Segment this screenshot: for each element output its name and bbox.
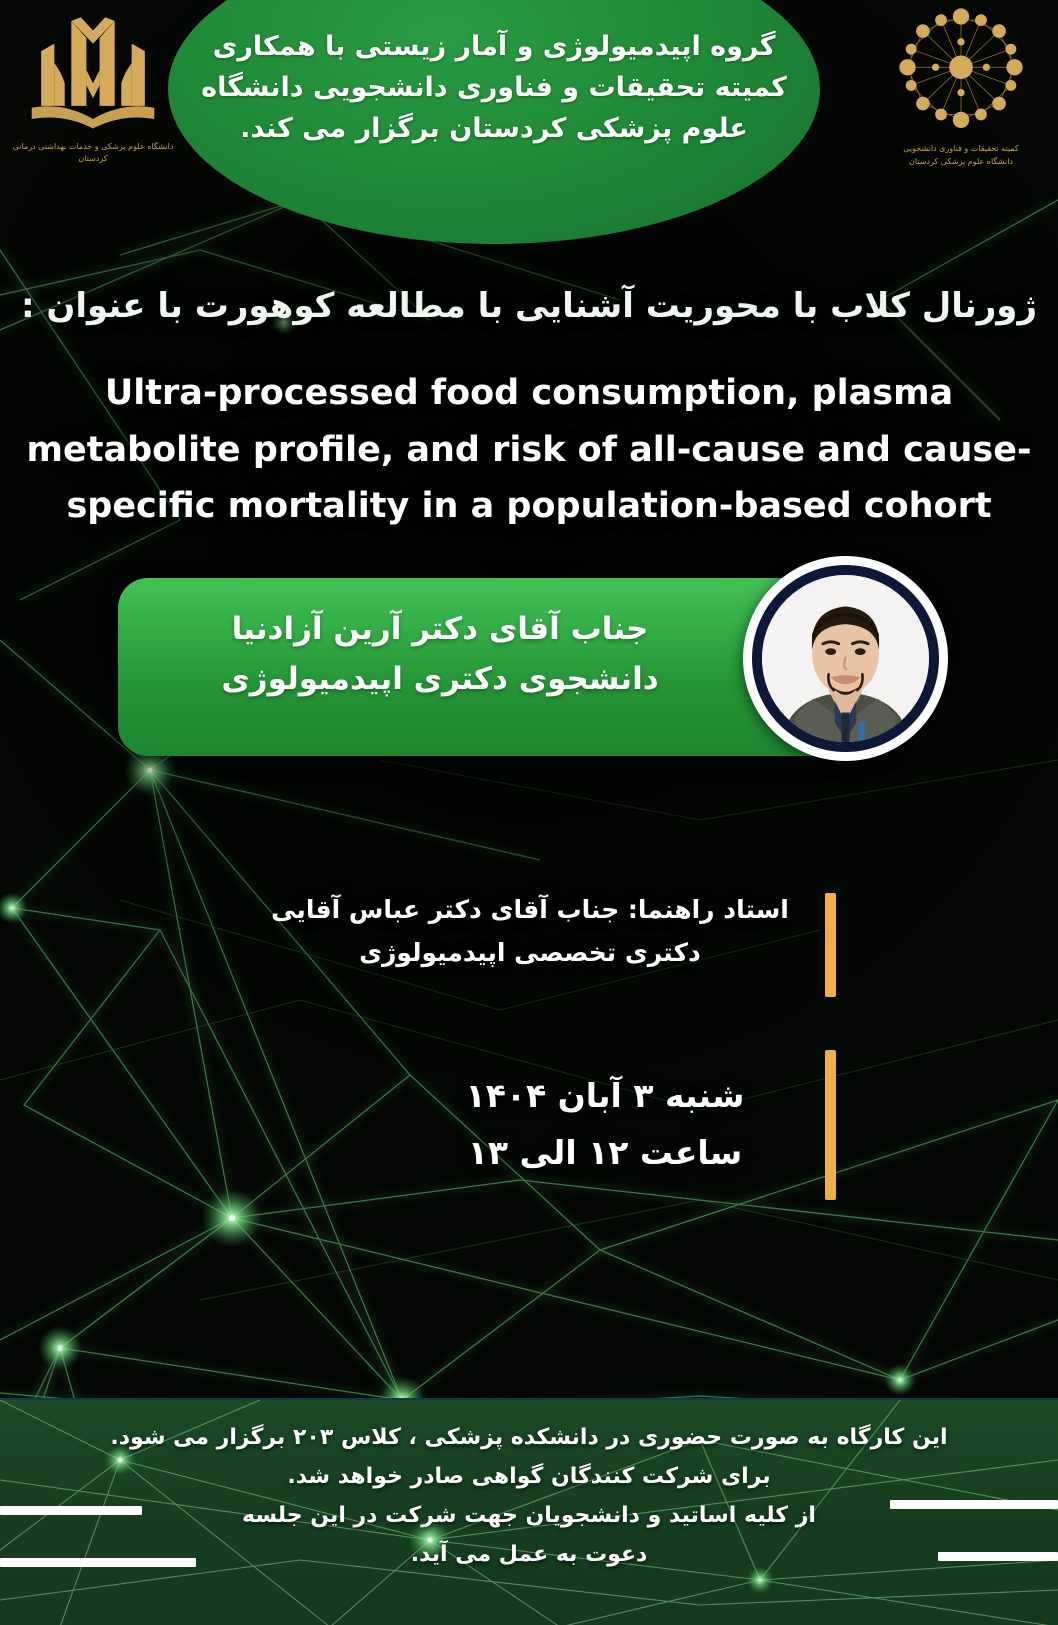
- university-logo-caption: دانشگاه علوم پزشکی و خدمات بهداشتی درمان…: [8, 141, 178, 165]
- footer-line-invite-1: از کلیه اساتید و دانشجویان جهت شرکت در ا…: [26, 1496, 1032, 1535]
- footer-decor-bar-left-2: [0, 1558, 196, 1567]
- speaker-avatar: [743, 556, 948, 761]
- speaker-role: دانشجوی دکتری اپیدمیولوژی: [160, 655, 720, 705]
- footer-notes: این کارگاه به صورت حضوری در دانشکده پزشک…: [0, 1418, 1058, 1575]
- research-committee-caption-line1: کمیته تحقیقات و فناوری دانشجویی: [870, 143, 1052, 155]
- supervisor-block: استاد راهنما: جناب آقای دکتر عباس آقایی …: [250, 888, 810, 974]
- supervisor-name: استاد راهنما: جناب آقای دکتر عباس آقایی: [250, 888, 810, 931]
- background-network-graphic: [0, 0, 1058, 1625]
- avatar-photo: [762, 575, 929, 742]
- footer-decor-bar-left-1: [0, 1506, 142, 1515]
- persian-subtitle: ژورنال کلاب با محوریت آشنایی با مطالعه ک…: [0, 286, 1058, 326]
- footer-line-certificate: برای شرکت کنندگان گواهی صادر خواهد شد.: [26, 1457, 1032, 1496]
- background-vignette: [0, 0, 1058, 1625]
- speaker-info: جناب آقای دکتر آرین آزادنیا دانشجوی دکتر…: [160, 605, 720, 704]
- footer-decor-bar-right-2: [938, 1552, 1058, 1561]
- university-emblem-icon: [8, 4, 178, 136]
- footer-line-invite-2: دعوت به عمل می آید.: [26, 1535, 1032, 1574]
- poster-root: گروه اپیدمیولوژی و آمار زیستی با همکاری …: [0, 0, 1058, 1625]
- research-committee-logo: کمیته تحقیقات و فناوری دانشجویی دانشگاه …: [870, 2, 1052, 182]
- event-date: شنبه ۳ آبان ۱۴۰۴: [400, 1068, 810, 1125]
- footer-line-venue: این کارگاه به صورت حضوری در دانشکده پزشک…: [26, 1418, 1032, 1457]
- organizer-header-text: گروه اپیدمیولوژی و آمار زیستی با همکاری …: [168, 26, 820, 149]
- footer-banner: این کارگاه به صورت حضوری در دانشکده پزشک…: [0, 1398, 1058, 1625]
- kurdistan-university-logo: دانشگاه علوم پزشکی و خدمات بهداشتی درمان…: [8, 4, 178, 179]
- speaker-name: جناب آقای دکتر آرین آزادنیا: [160, 605, 720, 655]
- english-article-title: Ultra-processed food consumption, plasma…: [0, 365, 1058, 535]
- schedule-block: شنبه ۳ آبان ۱۴۰۴ ساعت ۱۲ الی ۱۳: [400, 1068, 810, 1182]
- research-committee-caption-line2: دانشگاه علوم پزشکی کردستان: [870, 156, 1052, 168]
- accent-bar-schedule: [825, 1050, 836, 1200]
- footer-decor-bar-right-1: [890, 1500, 1058, 1509]
- accent-bar-supervisor: [825, 893, 836, 997]
- portrait-illustration-icon: [762, 575, 929, 742]
- event-time: ساعت ۱۲ الی ۱۳: [400, 1125, 810, 1182]
- supervisor-degree: دکتری تخصصی اپیدمیولوژی: [250, 931, 810, 974]
- network-node-emblem-icon: [870, 2, 1052, 138]
